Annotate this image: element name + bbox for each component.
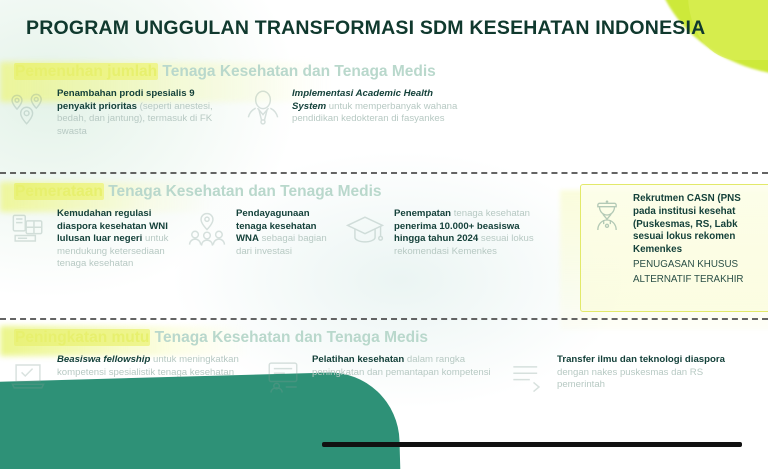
transfer-icon	[506, 354, 550, 398]
list-item: Penempatan tenaga kesehatan penerima 10.…	[343, 208, 549, 271]
section-pemenuhan-jumlah: Pemenuhan jumlah Tenaga Kesehatan dan Te…	[0, 62, 768, 138]
section-3-heading: Peningkatan mutu Tenaga Kesehatan dan Te…	[14, 328, 768, 348]
callout-text: Rekrutmen CASN (PNS pada institusi keseh…	[633, 193, 744, 303]
list-item-text: Pelatihan kesehatan dalam rangka peningk…	[312, 354, 492, 379]
list-item: Pendayagunaan tenaga kesehatan WNA sebag…	[185, 208, 331, 271]
section-1-heading-rest: Tenaga Kesehatan dan Tenaga Medis	[158, 63, 436, 80]
nurse-icon	[587, 193, 627, 237]
list-item: Implementasi Academic Health System untu…	[241, 88, 462, 138]
laptop-icon	[6, 354, 50, 398]
list-item-text: Transfer ilmu dan teknologi diaspora den…	[557, 354, 747, 392]
section-2-heading-highlight: Pemerataan	[14, 183, 104, 200]
callout-rekrutmen-casn: Rekrutmen CASN (PNS pada institusi keseh…	[580, 184, 768, 312]
people-location-icon	[185, 208, 229, 252]
list-item: Beasiswa fellowship untuk meningkatkan k…	[6, 354, 247, 398]
section-3-items: Beasiswa fellowship untuk meningkatkan k…	[0, 354, 768, 398]
section-peningkatan-mutu: Peningkatan mutu Tenaga Kesehatan dan Te…	[0, 328, 768, 398]
list-item-text: Penambahan prodi spesialis 9 penyakit pr…	[57, 88, 227, 138]
callout-line-7: ALTERNATIF TERAKHIR	[633, 274, 744, 287]
list-item-lead: Penempatan	[394, 208, 451, 219]
doctor-icon	[241, 88, 285, 132]
list-item-text: Penempatan tenaga kesehatan penerima 10.…	[394, 208, 549, 258]
list-item: Kemudahan regulasi diaspora kesehatan WN…	[6, 208, 175, 271]
list-item-text: Pendayagunaan tenaga kesehatan WNA sebag…	[236, 208, 331, 258]
list-item: Pelatihan kesehatan dalam rangka peningk…	[261, 354, 492, 398]
callout-line-4: sesuai lokus rekomen	[633, 231, 735, 242]
callout-line-1: Rekrutmen CASN (PNS	[633, 193, 741, 204]
list-item-text: Beasiswa fellowship untuk meningkatkan k…	[57, 354, 247, 379]
map-pins-icon	[6, 88, 50, 132]
callout-line-6: PENUGASAN KHUSUS	[633, 259, 744, 272]
page-title: PROGRAM UNGGULAN TRANSFORMASI SDM KESEHA…	[26, 17, 705, 40]
section-1-heading: Pemenuhan jumlah Tenaga Kesehatan dan Te…	[14, 62, 768, 82]
training-board-icon	[261, 354, 305, 398]
list-item-text: Kemudahan regulasi diaspora kesehatan WN…	[57, 208, 175, 271]
callout-line-5: Kemenkes	[633, 244, 682, 255]
list-item-body: tenaga kesehatan	[451, 208, 530, 219]
list-item-lead: Beasiswa fellowship	[57, 354, 150, 365]
callout-line-3: (Puskesmas, RS, Labk	[633, 219, 738, 230]
list-item: Penambahan prodi spesialis 9 penyakit pr…	[6, 88, 227, 138]
section-divider-1	[0, 172, 768, 174]
list-item-lead: Pelatihan kesehatan	[312, 354, 404, 365]
section-3-heading-rest: Tenaga Kesehatan dan Tenaga Medis	[150, 329, 428, 346]
list-item-text: Implementasi Academic Health System untu…	[292, 88, 462, 126]
section-divider-2	[0, 318, 768, 320]
callout-line-2: pada institusi kesehat	[633, 206, 735, 217]
section-1-items: Penambahan prodi spesialis 9 penyakit pr…	[0, 88, 768, 138]
graduation-cap-icon	[343, 208, 387, 252]
list-item-lead: Transfer ilmu dan teknologi diaspora	[557, 354, 725, 365]
section-2-heading-rest: Tenaga Kesehatan dan Tenaga Medis	[104, 183, 382, 200]
section-3-heading-highlight: Peningkatan mutu	[14, 329, 150, 346]
section-1-heading-highlight: Pemenuhan jumlah	[14, 63, 158, 80]
list-item-body: dengan nakes puskesmas dan RS pemerintah	[557, 367, 703, 391]
list-item: Transfer ilmu dan teknologi diaspora den…	[506, 354, 747, 398]
black-bottom-bar	[322, 442, 742, 447]
regulation-document-icon	[6, 208, 50, 252]
